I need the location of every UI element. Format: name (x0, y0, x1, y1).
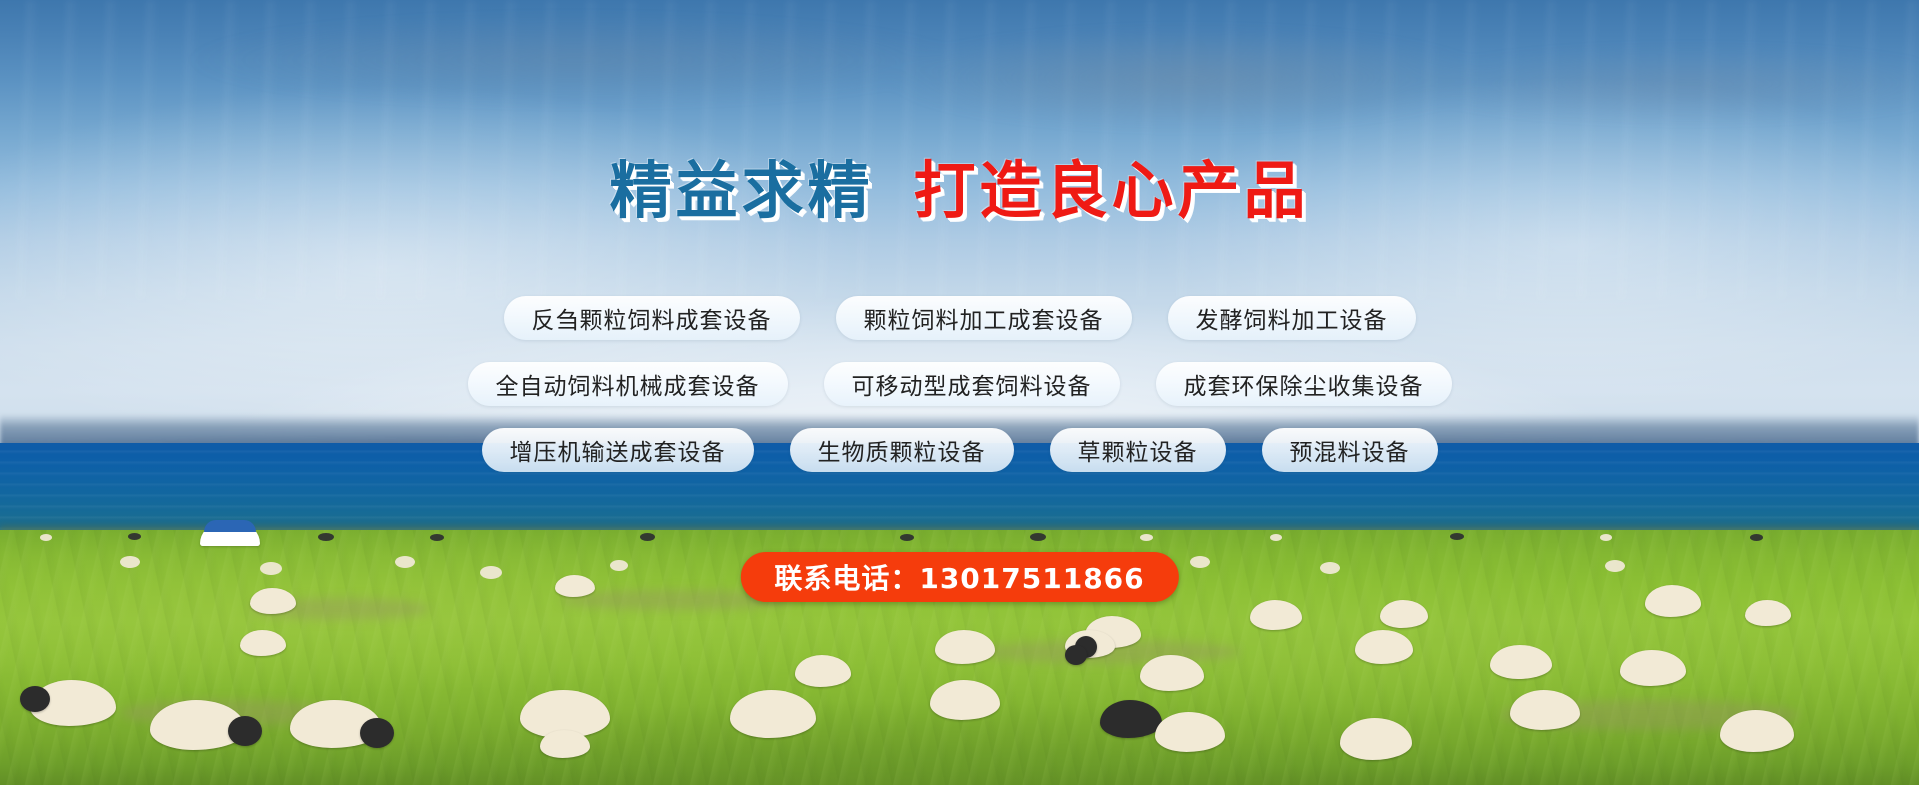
category-pill[interactable]: 颗粒饲料加工成套设备 (836, 296, 1132, 340)
sheep (1645, 585, 1701, 617)
distant-animal (318, 533, 334, 541)
sheep-far (1605, 560, 1625, 572)
category-pill[interactable]: 全自动饲料机械成套设备 (468, 362, 788, 406)
category-pill[interactable]: 成套环保除尘收集设备 (1156, 362, 1452, 406)
sheep (1380, 600, 1428, 628)
sheep-dark (1065, 645, 1087, 665)
distant-animal (1030, 533, 1046, 541)
distant-animal (1140, 534, 1153, 541)
distant-animal (1450, 533, 1464, 540)
sheep (1745, 600, 1791, 626)
sheep (240, 630, 286, 656)
sheep-far (1190, 556, 1210, 568)
yurt-tent (200, 524, 260, 546)
category-pill[interactable]: 反刍颗粒饲料成套设备 (504, 296, 800, 340)
cloud-haze (0, 12, 1919, 132)
distant-animal (430, 534, 444, 541)
category-pill[interactable]: 预混料设备 (1262, 428, 1438, 472)
sheep-dark (360, 718, 394, 748)
sheep (795, 655, 851, 687)
contact-phone-badge[interactable]: 联系电话：13017511866 (740, 552, 1178, 602)
promo-banner: 精益求精打造良心产品 反刍颗粒饲料成套设备 颗粒饲料加工成套设备 发酵饲料加工设… (0, 0, 1919, 785)
distant-animal (40, 534, 52, 541)
sheep-far (1320, 562, 1340, 574)
distant-animal (1600, 534, 1612, 541)
sheep-dark (228, 716, 262, 746)
distant-animal (900, 534, 914, 541)
banner-headline: 精益求精打造良心产品 (0, 160, 1919, 222)
distant-animal (640, 533, 655, 541)
sheep-far (120, 556, 140, 568)
sheep-dark (20, 686, 50, 712)
sheep (1250, 600, 1302, 630)
sheep-far (395, 556, 415, 568)
sheep (540, 730, 590, 758)
category-pill-row-2: 全自动饲料机械成套设备 可移动型成套饲料设备 成套环保除尘收集设备 (0, 362, 1919, 406)
sheep (250, 588, 296, 614)
category-pill-rows: 反刍颗粒饲料成套设备 颗粒饲料加工成套设备 发酵饲料加工设备 全自动饲料机械成套… (0, 296, 1919, 494)
category-pill[interactable]: 增压机输送成套设备 (482, 428, 754, 472)
sheep (1490, 645, 1552, 679)
sheep (935, 630, 995, 664)
distant-animal (128, 533, 141, 540)
sheep-far (610, 560, 628, 571)
category-pill[interactable]: 可移动型成套饲料设备 (824, 362, 1120, 406)
sheep (1355, 630, 1413, 664)
distant-animal (1750, 534, 1763, 541)
category-pill-row-1: 反刍颗粒饲料成套设备 颗粒饲料加工成套设备 发酵饲料加工设备 (0, 296, 1919, 340)
distant-animal (1270, 534, 1282, 541)
category-pill-row-3: 增压机输送成套设备 生物质颗粒设备 草颗粒设备 预混料设备 (0, 428, 1919, 472)
headline-blue-text: 精益求精 (609, 154, 873, 227)
sheep-far (260, 562, 282, 575)
category-pill[interactable]: 草颗粒设备 (1050, 428, 1226, 472)
category-pill[interactable]: 发酵饲料加工设备 (1168, 296, 1416, 340)
sheep-far (480, 566, 502, 579)
headline-red-text: 打造良心产品 (914, 154, 1310, 227)
category-pill[interactable]: 生物质颗粒设备 (790, 428, 1014, 472)
sheep (555, 575, 595, 597)
